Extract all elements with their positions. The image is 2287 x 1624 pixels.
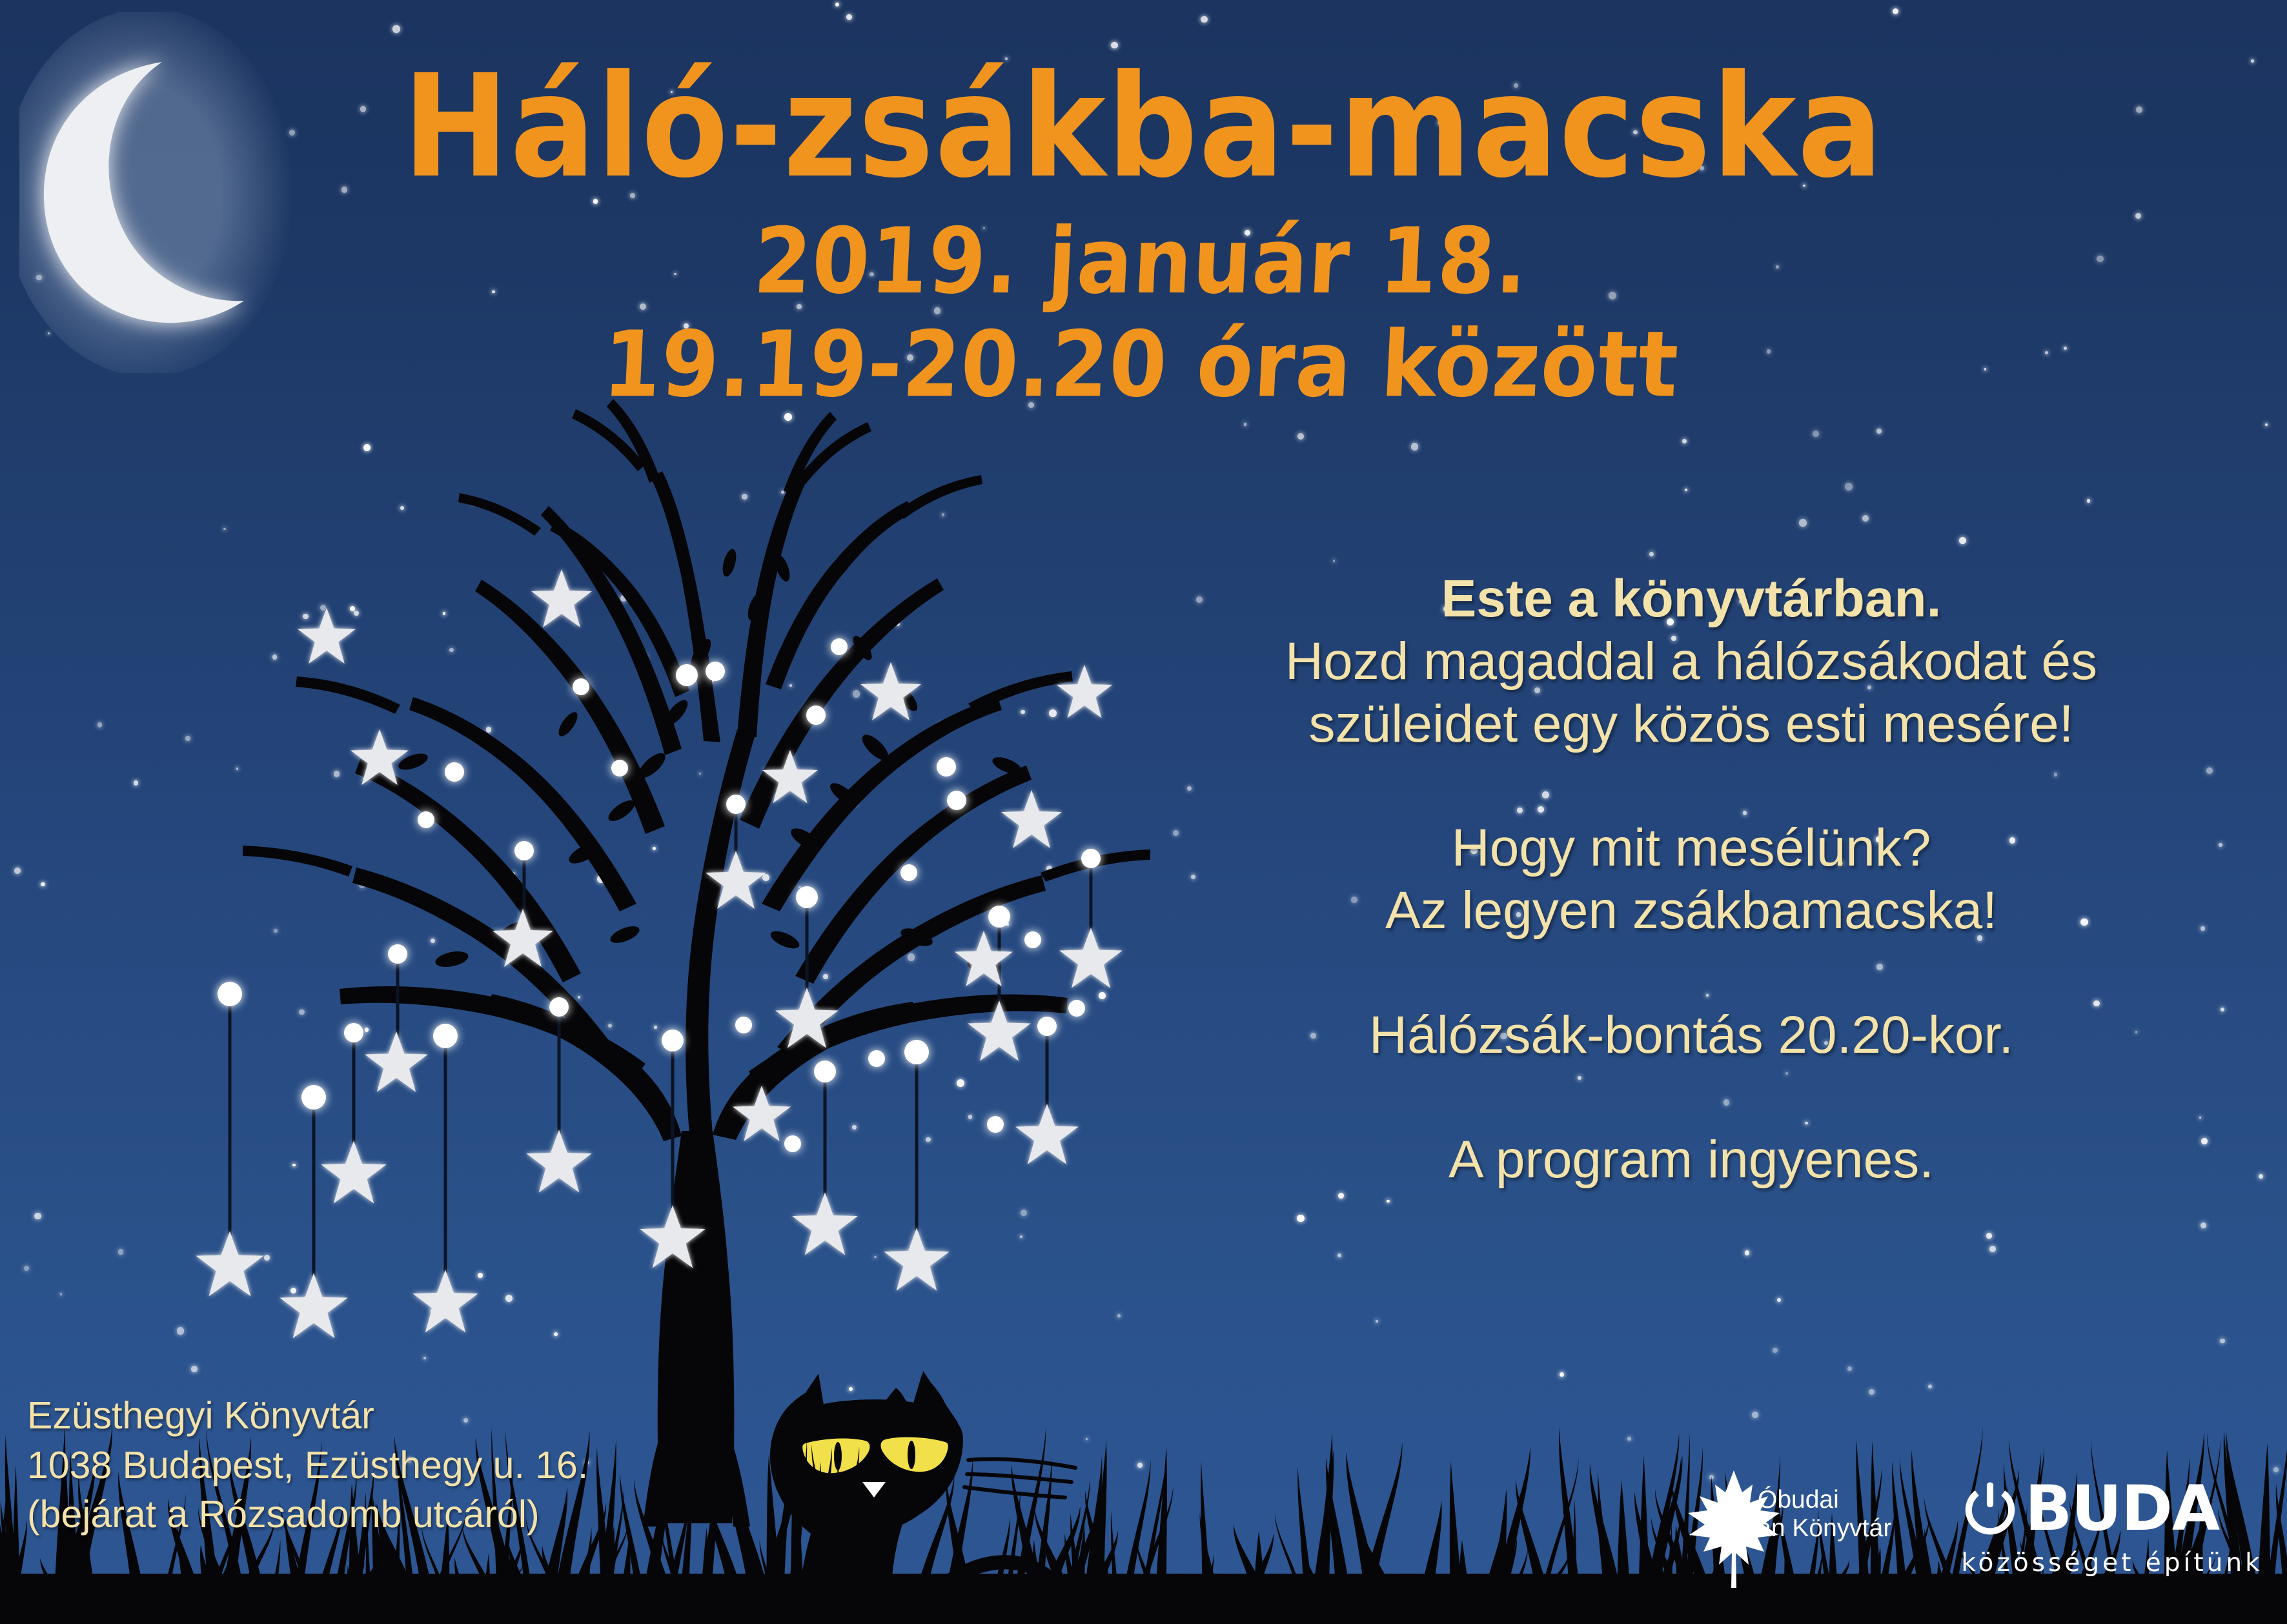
sparkle-star	[400, 506, 404, 510]
sparkle-star	[1745, 1250, 1750, 1255]
sparkle-star	[1297, 1215, 1304, 1222]
sparkle-star	[264, 1255, 270, 1261]
grass-blade	[394, 1436, 438, 1624]
sparkle-star	[1191, 875, 1195, 879]
sparkle-star	[34, 1213, 41, 1220]
obuda-wordmark-row: BUDA	[1960, 1477, 2264, 1539]
sparkle-star	[449, 648, 454, 653]
grass-blade	[1616, 1480, 1632, 1624]
sparkle-star	[849, 1387, 853, 1391]
grass-blade	[1357, 1442, 1403, 1624]
sparkle-star	[699, 773, 701, 775]
sparkle-star	[585, 1461, 589, 1465]
grass-blade	[1535, 1457, 1578, 1624]
sparkle-star	[1351, 897, 1357, 903]
sparkle-star	[784, 413, 792, 421]
sparkle-star	[2220, 1339, 2225, 1344]
sparkle-star	[423, 1357, 426, 1359]
sparkle-star	[798, 886, 801, 889]
grass-blade	[62, 1459, 73, 1624]
grass-blade	[1010, 1427, 1046, 1624]
grass-blade	[0, 1492, 14, 1624]
sparkle-star	[41, 882, 45, 887]
grass-blade	[352, 1492, 366, 1624]
sparkle-star	[896, 622, 900, 626]
sparkle-star	[359, 882, 365, 888]
sparkle-star	[2201, 926, 2204, 930]
grass-blade	[476, 1437, 522, 1624]
venue-street: 1038 Budapest, Ezüsthegy u. 16.	[27, 1441, 588, 1490]
starfield	[0, 0, 2287, 1624]
sparkle-star	[1028, 402, 1034, 408]
sparkle-star	[354, 611, 359, 616]
grass-blade	[828, 1443, 839, 1624]
grass-blade	[339, 1561, 365, 1624]
sparkle-star	[1443, 606, 1449, 612]
grass-blade	[490, 1501, 530, 1624]
grass-blade	[1064, 1533, 1083, 1624]
sparkle-star	[341, 187, 347, 192]
sparkle-star	[1111, 42, 1117, 48]
sparkle-star	[236, 767, 239, 770]
sparkle-star	[1824, 1041, 1828, 1045]
grass-blade	[542, 1546, 569, 1624]
sparkle-star	[431, 939, 435, 943]
grass-blade	[1649, 1516, 1681, 1624]
grass-blade	[256, 1564, 296, 1624]
sparkle-star	[926, 1137, 930, 1142]
grass-blade	[662, 1535, 694, 1624]
sparkle-star	[1542, 791, 1549, 798]
grass-blade	[1066, 1557, 1097, 1624]
sparkle-star	[2080, 919, 2088, 926]
sparkle-star	[825, 949, 827, 951]
sparkle-star	[14, 868, 21, 874]
grass-blade	[1501, 1549, 1528, 1624]
sparkle-star	[36, 275, 42, 281]
grass-blade	[310, 1504, 343, 1624]
sparkle-star	[1245, 230, 1250, 236]
grass-blade	[1359, 1521, 1407, 1624]
sparkle-star	[1893, 8, 1898, 14]
grass-blade	[1031, 1506, 1080, 1624]
grass-blade	[40, 1558, 75, 1624]
grass-blade	[372, 1487, 381, 1624]
grass-blade	[817, 1446, 860, 1624]
grass-blade	[491, 1428, 505, 1624]
grass-blade	[1275, 1512, 1311, 1624]
sparkle-star	[1387, 1200, 1390, 1203]
sparkle-star	[2251, 59, 2254, 63]
grass-blade	[678, 1473, 692, 1624]
sparkle-star	[1739, 600, 1743, 604]
sparkle-star	[185, 736, 190, 741]
sparkle-star	[983, 227, 985, 229]
grass-blade	[1478, 1525, 1502, 1624]
grass-blade	[507, 1536, 538, 1624]
venue-entrance-note: (bejárat a Rózsadomb utcáról)	[27, 1490, 588, 1539]
sparkle-star	[789, 684, 792, 687]
grass-blade	[697, 1450, 720, 1624]
sparkle-star	[1609, 292, 1616, 299]
sparkle-star	[1117, 1314, 1121, 1317]
sparkle-star	[1470, 847, 1478, 854]
grass-blade	[634, 1479, 678, 1624]
sparkle-star	[60, 1293, 62, 1295]
grass-blade	[523, 1558, 549, 1624]
sparkle-star	[742, 494, 747, 500]
sparkle-star	[274, 929, 278, 933]
grass-blade	[620, 1472, 647, 1624]
sparkle-star	[1959, 537, 1966, 544]
grass-blade	[1201, 1461, 1212, 1624]
grass-blade	[1045, 1545, 1079, 1624]
grass-blade	[1669, 1562, 1680, 1624]
grass-blade	[219, 1436, 252, 1624]
grass-blade	[199, 1436, 221, 1624]
sparkle-star	[781, 491, 784, 494]
grass-blade	[1058, 1502, 1099, 1624]
grass-blade	[598, 1439, 616, 1624]
sparkle-star	[1337, 1254, 1341, 1257]
platan-logo-text: Óbudai Platán Könyvtár	[1714, 1486, 1901, 1542]
sparkle-star	[48, 332, 50, 334]
sparkle-star	[1838, 861, 1843, 866]
sparkle-star	[940, 723, 942, 725]
grass-blade	[159, 1494, 186, 1624]
sparkle-star	[562, 664, 567, 670]
grass-blade	[720, 1439, 764, 1624]
grass-blade	[178, 1526, 199, 1624]
paragraph-spacer	[1123, 942, 2259, 1004]
sparkle-star	[2201, 1223, 2206, 1228]
grass-blade	[268, 1539, 280, 1624]
grass-blade	[1001, 1565, 1043, 1624]
poster-canvas: Háló-zsákba-macska 2019. január 18. 19.1…	[0, 0, 2287, 1624]
obuda-wordmark: BUDA	[2025, 1477, 2219, 1539]
night-scenery	[0, 0, 2287, 1624]
grass-blade	[598, 1525, 615, 1624]
grass-blade	[1363, 1550, 1374, 1624]
sparkle-star	[472, 501, 474, 503]
sparkle-star	[1376, 1320, 1379, 1323]
sparkle-star	[134, 780, 139, 786]
grass-blade	[1088, 1441, 1106, 1624]
sparkle-star	[1862, 515, 1869, 522]
sparkle-star	[1534, 687, 1540, 693]
sparkle-star	[684, 323, 689, 329]
grass-blade	[1252, 1531, 1268, 1624]
description-line: Hozd magaddal a hálózsákodat és	[1123, 631, 2259, 693]
sparkle-star	[2054, 773, 2058, 776]
sparkle-star	[1876, 429, 1882, 434]
obuda-district-logo[interactable]: BUDA közösséget építünk	[1960, 1477, 2264, 1578]
sparkle-star	[1333, 560, 1336, 562]
grass-blade	[1085, 1490, 1119, 1624]
obuda-tagline: közösséget építünk	[1960, 1548, 2264, 1578]
grass-blade	[1031, 1540, 1044, 1624]
sparkle-star	[1187, 786, 1192, 791]
sparkle-star	[505, 1295, 513, 1302]
grass-blade	[1201, 1554, 1214, 1624]
sparkle-star	[1516, 912, 1521, 917]
sparkle-star	[762, 874, 769, 881]
sparkle-star	[1776, 265, 1779, 269]
black-cat-silhouette	[770, 1371, 1075, 1624]
grass-blade	[1136, 1539, 1164, 1624]
sparkle-star	[653, 847, 656, 850]
grass-blade	[723, 1550, 757, 1624]
sparkle-star	[289, 130, 295, 136]
description-line: Az legyen zsákbamacska!	[1123, 880, 2259, 942]
grass-blade	[118, 1472, 148, 1624]
grass-blade	[871, 1540, 899, 1624]
grass-blade	[1011, 1464, 1047, 1624]
grass-blade	[1490, 1446, 1530, 1624]
grass-blade	[481, 1554, 491, 1624]
grass-blade	[1654, 1523, 1665, 1624]
sparkle-star	[2135, 213, 2142, 219]
grass-blade	[373, 1499, 392, 1624]
grass-blade	[786, 1440, 807, 1624]
sparkle-star	[1049, 709, 1057, 717]
sparkle-star	[1507, 372, 1511, 376]
sparkle-star	[835, 3, 839, 6]
sparkle-star	[1743, 811, 1747, 815]
grass-blade	[68, 1451, 81, 1624]
venue-name: Ezüsthegyi Könyvtár	[27, 1391, 588, 1441]
sparkle-star	[942, 513, 945, 516]
grass-blade	[1571, 1499, 1578, 1624]
sparkle-star	[713, 1412, 719, 1417]
grass-blade	[545, 1565, 553, 1624]
grass-blade	[78, 1474, 97, 1624]
grass-blade	[1066, 1558, 1099, 1624]
sparkle-star	[1627, 1437, 1631, 1441]
grass-blade	[1590, 1463, 1627, 1624]
grass-blade	[811, 1445, 855, 1624]
grass-blade	[0, 1440, 18, 1624]
sparkle-star	[1201, 16, 1208, 23]
grass-blade	[285, 1518, 309, 1624]
sparkle-star	[2273, 1467, 2279, 1472]
grass-blade	[200, 1545, 220, 1624]
title-line-3: 19.19-20.20 óra között	[0, 310, 2287, 421]
paragraph-spacer	[1123, 755, 2259, 817]
sparkle-star	[1196, 596, 1203, 603]
grass-blade	[454, 1558, 473, 1624]
sparkle-star	[365, 1028, 369, 1032]
grass-blade	[946, 1480, 977, 1624]
grass-blade	[1297, 1467, 1314, 1624]
grass-blade	[702, 1474, 750, 1624]
grass-blade	[505, 1430, 536, 1624]
grass-blade	[397, 1445, 417, 1624]
grass-blade	[1559, 1427, 1582, 1624]
grass-blade	[2276, 1483, 2287, 1624]
sparkle-star	[478, 1273, 483, 1278]
sparkle-star	[401, 1065, 405, 1070]
grass-blade	[6, 1520, 27, 1624]
sparkle-star	[334, 771, 340, 776]
sparkle-star	[853, 802, 857, 806]
sparkle-star	[1021, 710, 1025, 715]
grass-blade	[391, 1508, 400, 1624]
grass-blade	[1082, 1457, 1102, 1624]
sparkle-star	[320, 605, 326, 611]
grass-blade	[365, 1520, 372, 1624]
sparkle-star	[1297, 433, 1304, 440]
sparkle-star	[608, 1024, 612, 1028]
sparkle-star	[1805, 1122, 1808, 1125]
grass-blade	[577, 1528, 591, 1624]
sparkle-star	[1869, 1389, 1875, 1396]
grass-blade	[0, 1499, 6, 1624]
sparkle-star	[272, 655, 278, 660]
sparkle-star	[1876, 837, 1882, 842]
power-symbol-icon	[1960, 1479, 2020, 1538]
grass-blade	[1598, 1501, 1619, 1624]
grass-blade	[795, 1448, 831, 1624]
sparkle-star	[597, 875, 605, 883]
grass-blade	[1450, 1461, 1463, 1624]
grass-blade	[1644, 1455, 1681, 1624]
sparkle-star	[463, 1418, 468, 1423]
grass-blade	[618, 1534, 630, 1624]
grass-blade	[1002, 1490, 1020, 1624]
grass-blade	[56, 1457, 96, 1624]
sparkle-star	[1578, 1076, 1582, 1081]
grass-blade	[1111, 1510, 1120, 1624]
description-line: szüleidet egy közös esti mesére!	[1123, 693, 2259, 756]
sparkle-star	[118, 1249, 124, 1255]
grass-blade	[1640, 1456, 1682, 1624]
sparkle-star	[223, 528, 226, 531]
sparkle-star	[630, 193, 635, 198]
grass-blade	[1642, 1432, 1679, 1624]
sparkle-star	[2045, 351, 2048, 354]
platan-logo-line-1: Óbudai	[1714, 1486, 1901, 1514]
grass-blade	[1070, 1513, 1085, 1624]
grass-blade	[1326, 1457, 1354, 1624]
grass-blade	[207, 1532, 239, 1624]
sparkle-star	[957, 1079, 964, 1087]
sparkle-star	[654, 1026, 657, 1029]
sparkle-star	[708, 676, 715, 682]
grass-blade	[198, 1508, 238, 1624]
sparkle-star	[350, 606, 355, 611]
grass-blade	[1237, 1534, 1274, 1624]
sparkle-star	[2009, 837, 2016, 844]
grass-blade	[596, 1448, 614, 1624]
sparkle-star	[1517, 807, 1523, 813]
sparkle-star	[1086, 1438, 1088, 1440]
grass-blade	[2264, 1425, 2287, 1624]
sparkle-star	[846, 14, 852, 20]
grass-blade	[803, 1462, 821, 1624]
sparkle-star	[1706, 994, 1709, 997]
sparkle-star	[1099, 992, 1106, 999]
sparkle-star	[1257, 270, 1264, 277]
grass-blade	[1516, 1479, 1554, 1624]
sparkle-star	[1785, 1072, 1788, 1075]
description-line: Hogy mit mesélünk?	[1123, 817, 2259, 880]
sparkle-star	[1767, 349, 1771, 353]
grass-blade	[480, 1563, 523, 1624]
grass-blade	[942, 1459, 973, 1624]
grass-blade	[1077, 1531, 1117, 1624]
sparkle-star	[1006, 923, 1009, 926]
grass-blade	[1310, 1449, 1334, 1624]
paragraph-spacer	[1123, 1067, 2259, 1129]
sparkle-star	[671, 91, 673, 93]
grass-blade	[1451, 1548, 1458, 1624]
sparkle-star	[1649, 552, 1654, 556]
sparkle-star	[1538, 806, 1545, 813]
sparkle-star	[2206, 767, 2213, 774]
grass-blade	[526, 1518, 569, 1624]
grass-blade	[538, 1487, 567, 1624]
sparkle-star	[1773, 1348, 1778, 1353]
sparkle-star	[1671, 636, 1676, 641]
grass-blade	[422, 1512, 466, 1624]
grass-blade	[988, 1517, 1010, 1624]
sparkle-star	[1137, 1463, 1143, 1468]
sparkle-star	[2136, 107, 2142, 113]
obudai-platan-konyvtar-logo[interactable]: Óbudai Platán Könyvtár	[1685, 1464, 1898, 1590]
grass-blade	[551, 1430, 590, 1624]
venue-address: Ezüsthegyi Könyvtár 1038 Budapest, Ezüst…	[27, 1391, 588, 1539]
sparkle-star	[1685, 489, 1687, 491]
grass-blade	[1490, 1538, 1517, 1624]
grass-blade	[1651, 1517, 1689, 1624]
grass-blade	[1130, 1486, 1173, 1624]
sparkle-star	[1020, 1235, 1022, 1238]
grass-blade	[379, 1519, 405, 1624]
sparkle-star	[797, 304, 802, 309]
sparkle-star	[1813, 431, 1819, 437]
sparkle-star	[833, 1476, 838, 1480]
sparkle-star	[823, 974, 829, 980]
grass-blade	[280, 1501, 320, 1624]
grass-blade	[1665, 1524, 1672, 1624]
grass-blade	[202, 1503, 242, 1624]
grass-blade	[1634, 1492, 1666, 1624]
grass-blade	[1638, 1456, 1651, 1624]
grass-blade	[0, 1489, 14, 1624]
description-line: A program ingyenes.	[1123, 1129, 2259, 1192]
sparkle-star	[24, 1266, 29, 1271]
sparkle-star	[1046, 866, 1053, 872]
sparkle-star	[511, 872, 516, 877]
hanging-stars	[230, 804, 1091, 1281]
sparkle-star	[1777, 1298, 1782, 1303]
sparkle-star	[907, 354, 913, 361]
sparkle-star	[1799, 519, 1807, 527]
sparkle-star	[852, 1125, 857, 1130]
grass-blade	[1306, 1556, 1336, 1624]
sparkle-star	[1667, 618, 1674, 625]
sparkle-star	[1438, 121, 1441, 125]
sparkle-star	[360, 106, 366, 112]
grass-blade	[1489, 1488, 1507, 1624]
sparkle-star	[623, 581, 625, 584]
grass-blade	[1618, 1560, 1639, 1624]
description-line: Este a könyvtárban.	[1123, 568, 2259, 631]
sparkle-star	[1803, 185, 1805, 187]
grass-blade	[376, 1501, 420, 1624]
sparkle-star	[869, 272, 874, 277]
